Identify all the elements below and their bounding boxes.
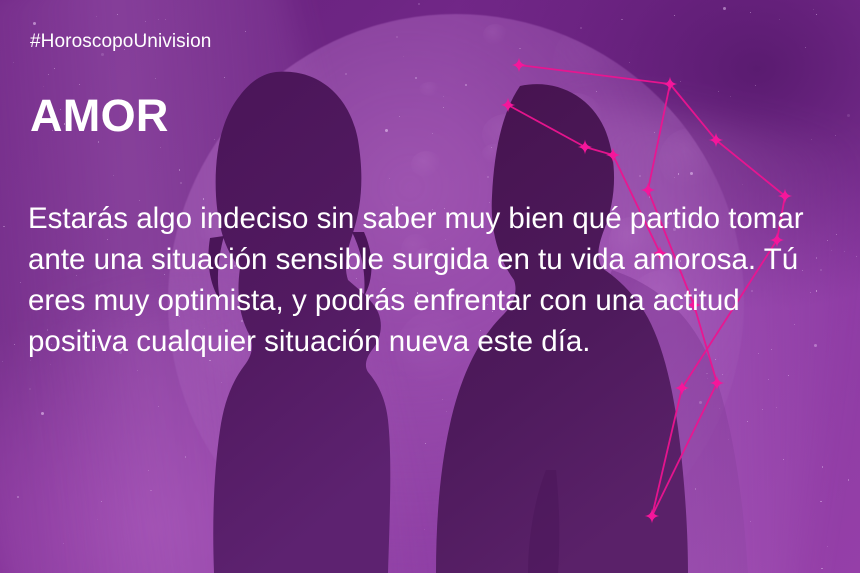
horoscope-card: #HoroscopoUnivision AMOR Estarás algo in… (0, 0, 860, 573)
hashtag-label: #HoroscopoUnivision (30, 31, 211, 53)
horoscope-body-text: Estarás algo indeciso sin saber muy bien… (28, 198, 838, 362)
page-title: AMOR (30, 93, 169, 138)
text-content: #HoroscopoUnivision AMOR Estarás algo in… (0, 0, 860, 573)
